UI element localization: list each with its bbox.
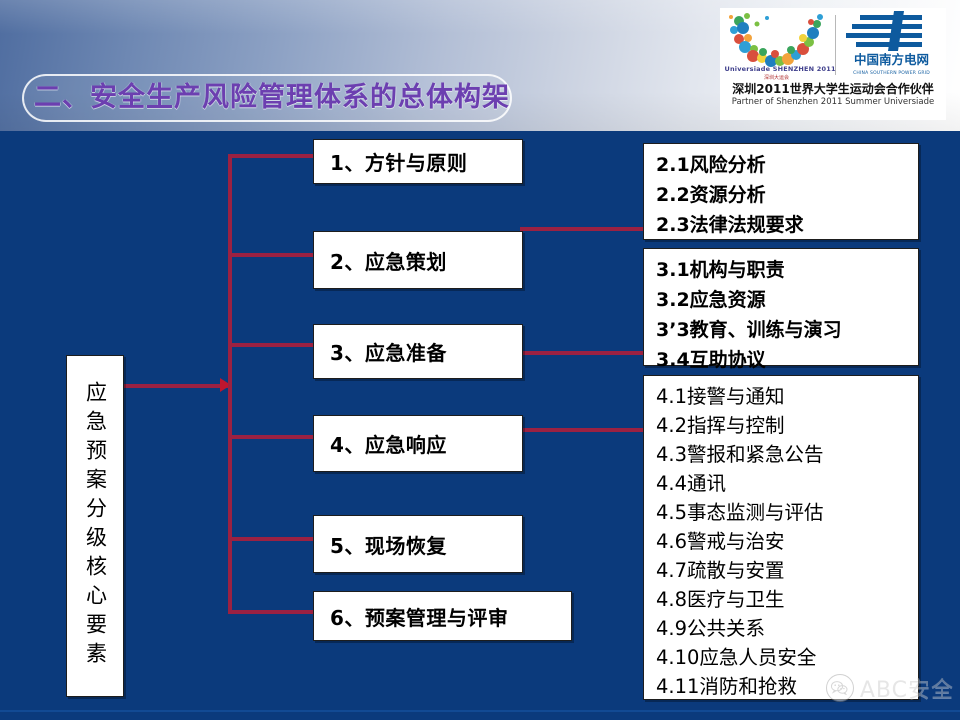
detail-line: 4.8医疗与卫生 [656,585,918,614]
step-label-3: 3、应急准备 [330,337,447,366]
csg-name-cn: 中国南方电网 [842,49,942,68]
detail-box-2: 2.1风险分析 2.2资源分析 2.3法律法规要求 [643,143,919,240]
step-label-1: 1、方针与原则 [330,147,467,176]
connector-bus-to-step-5 [228,537,314,541]
partner-line-en: Partner of Shenzhen 2011 Summer Universi… [720,97,946,108]
connector-step2-to-detail2 [520,227,648,231]
connector-bus-to-step-1 [228,154,314,158]
detail-line: 2.1风险分析 [656,150,918,180]
root-node-label: 应急预案分级核心要素 [85,381,106,671]
detail-line: 3.4互助协议 [656,345,918,375]
detail-line: 4.5事态监测与评估 [656,498,918,527]
detail-line: 4.6警戒与治安 [656,527,918,556]
detail-box-4: 4.1接警与通知 4.2指挥与控制 4.3警报和紧急公告 4.4通讯 4.5事态… [643,375,919,700]
detail-line: 4.11消防和抢救 [656,672,918,701]
csg-logo-icon: 中国南方电网 CHINA SOUTHERN POWER GRID [842,9,942,81]
step-box-2: 2、应急策划 [313,231,523,289]
detail-line: 4.1接警与通知 [656,382,918,411]
detail-line: 3.1机构与职责 [656,255,918,285]
detail-line: 4.4通讯 [656,469,918,498]
connector-step3-to-detail3 [520,351,648,355]
logo-row: Universiade SHENZHEN 2011 深圳大运会 中国南方电网 C… [720,8,946,82]
detail-line: 2.3法律法规要求 [656,210,918,240]
step-label-5: 5、现场恢复 [330,530,447,559]
detail-line: 2.2资源分析 [656,180,918,210]
universiade-logo-icon: Universiade SHENZHEN 2011 深圳大运会 [725,9,829,81]
connector-bus-to-step-4 [228,435,314,439]
step-label-6: 6、预案管理与评审 [330,602,508,631]
slide-root: 二、安全生产风险管理体系的总体构架 [0,0,960,720]
step-box-4: 4、应急响应 [313,415,523,472]
root-node-box: 应急预案分级核心要素 [66,355,124,697]
universiade-caption: Universiade SHENZHEN 2011 [725,65,829,73]
connector-bus-to-step-3 [228,343,314,347]
step-label-2: 2、应急策划 [330,246,447,275]
bottom-divider [0,710,960,712]
connector-step4-to-detail4 [520,428,648,432]
detail-line: 3.2应急资源 [656,285,918,315]
step-box-1: 1、方针与原则 [313,139,523,184]
step-box-3: 3、应急准备 [313,324,523,379]
page-title: 二、安全生产风险管理体系的总体构架 [34,76,504,120]
detail-box-3: 3.1机构与职责 3.2应急资源 3’3教育、训练与演习 3.4互助协议 [643,248,919,366]
step-box-5: 5、现场恢复 [313,515,523,573]
detail-line: 4.10应急人员安全 [656,643,918,672]
slide-body: 应急预案分级核心要素 1、方针与原则 2、应急策划 3、应急准备 4、应急响应 … [0,131,960,720]
step-label-4: 4、应急响应 [330,429,447,458]
universiade-subcaption: 深圳大运会 [725,74,829,81]
detail-line: 4.7疏散与安置 [656,556,918,585]
connector-bus-to-step-6 [228,610,314,614]
connector-vertical-bus [228,154,232,614]
step-box-6: 6、预案管理与评审 [313,591,572,641]
csg-name-en: CHINA SOUTHERN POWER GRID [842,71,942,76]
connector-root-to-bus [124,384,232,388]
detail-line: 4.3警报和紧急公告 [656,440,918,469]
connector-bus-to-step-2 [228,253,314,257]
partner-line-cn: 深圳2011世界大学生运动会合作伙伴 [720,82,946,97]
detail-line: 4.2指挥与控制 [656,411,918,440]
sponsor-logo-block: Universiade SHENZHEN 2011 深圳大运会 中国南方电网 C… [720,8,946,120]
detail-line: 4.9公共关系 [656,614,918,643]
detail-line: 3’3教育、训练与演习 [656,315,918,345]
